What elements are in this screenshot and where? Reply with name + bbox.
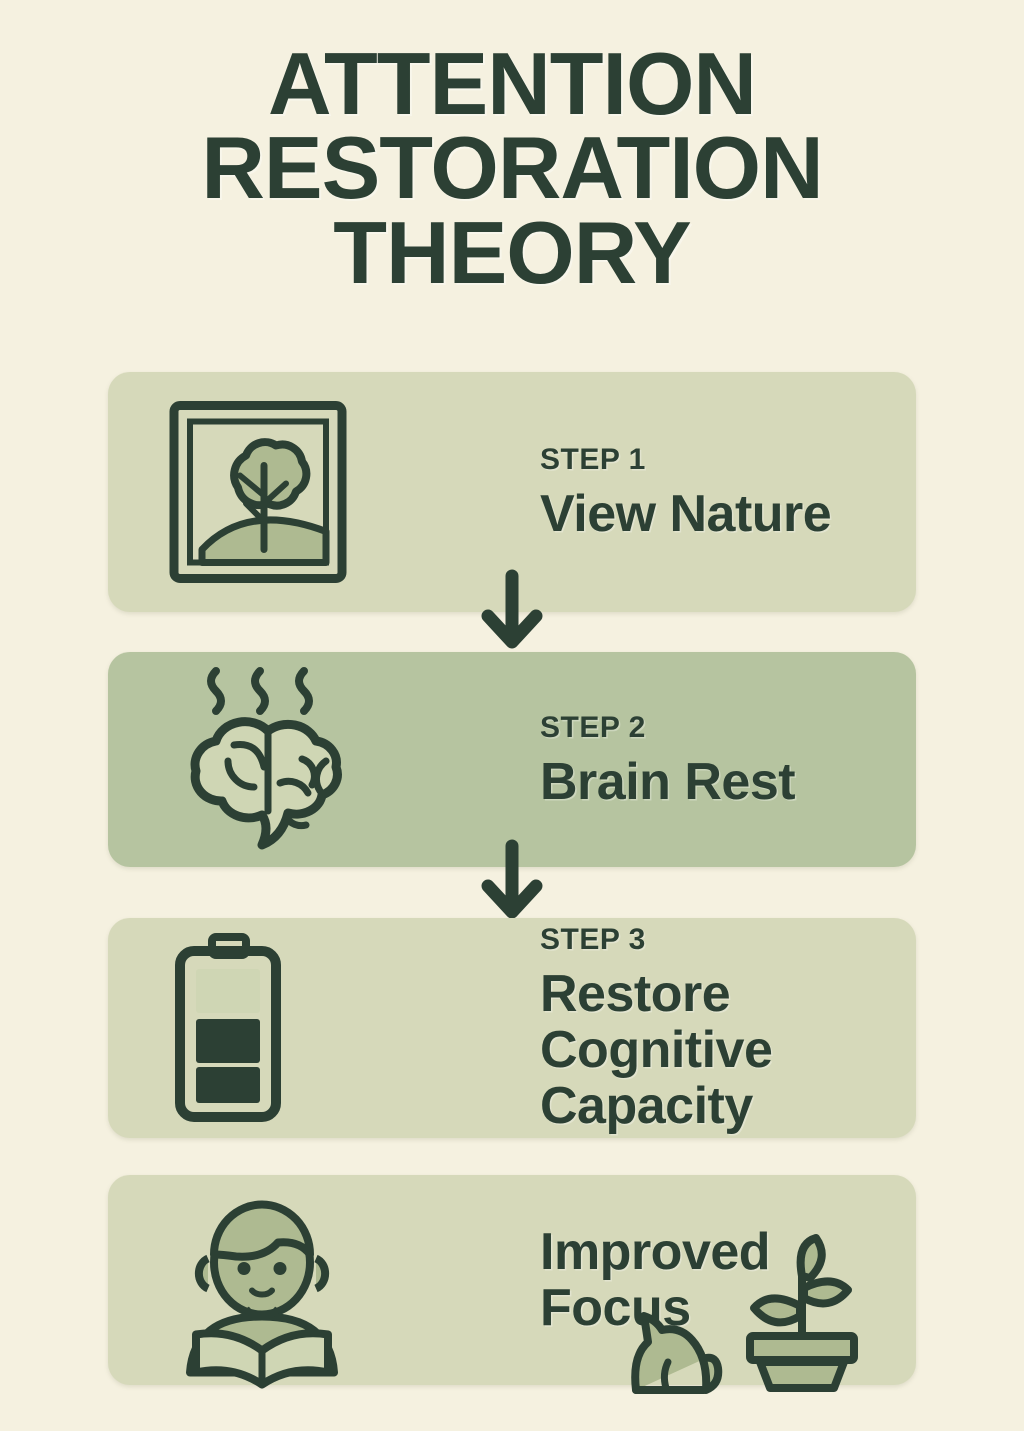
step-label: STEP 2 xyxy=(540,709,795,745)
window-nature-icon xyxy=(168,400,348,585)
arrow-step1-to-step2 xyxy=(478,570,546,656)
resting-brain-icon xyxy=(168,665,363,855)
step-card-1-text: STEP 1 View Nature xyxy=(540,442,831,542)
title-line-1: ATTENTION xyxy=(0,42,1024,126)
title-line-2: RESTORATION xyxy=(0,126,1024,210)
page-title: ATTENTION RESTORATION THEORY xyxy=(0,42,1024,295)
step-label: STEP 3 xyxy=(540,922,916,958)
step-title: Brain Rest xyxy=(540,753,795,809)
step-card-2-text: STEP 2 Brain Rest xyxy=(540,709,795,809)
cat-icon xyxy=(622,1290,732,1398)
step-title: Restore Cognitive Capacity xyxy=(540,966,916,1134)
step-card-3[interactable]: STEP 3 Restore Cognitive Capacity xyxy=(108,918,916,1138)
arrow-step2-to-step3 xyxy=(478,840,546,926)
step-card-3-text: STEP 3 Restore Cognitive Capacity xyxy=(540,922,916,1134)
title-line-3: THEORY xyxy=(0,211,1024,295)
person-reading-icon xyxy=(168,1173,358,1388)
step-label: STEP 1 xyxy=(540,442,831,478)
step-card-2[interactable]: STEP 2 Brain Rest xyxy=(108,652,916,867)
battery-charging-icon xyxy=(168,933,288,1123)
potted-plant-icon xyxy=(736,1232,866,1392)
step-title: View Nature xyxy=(540,486,831,542)
